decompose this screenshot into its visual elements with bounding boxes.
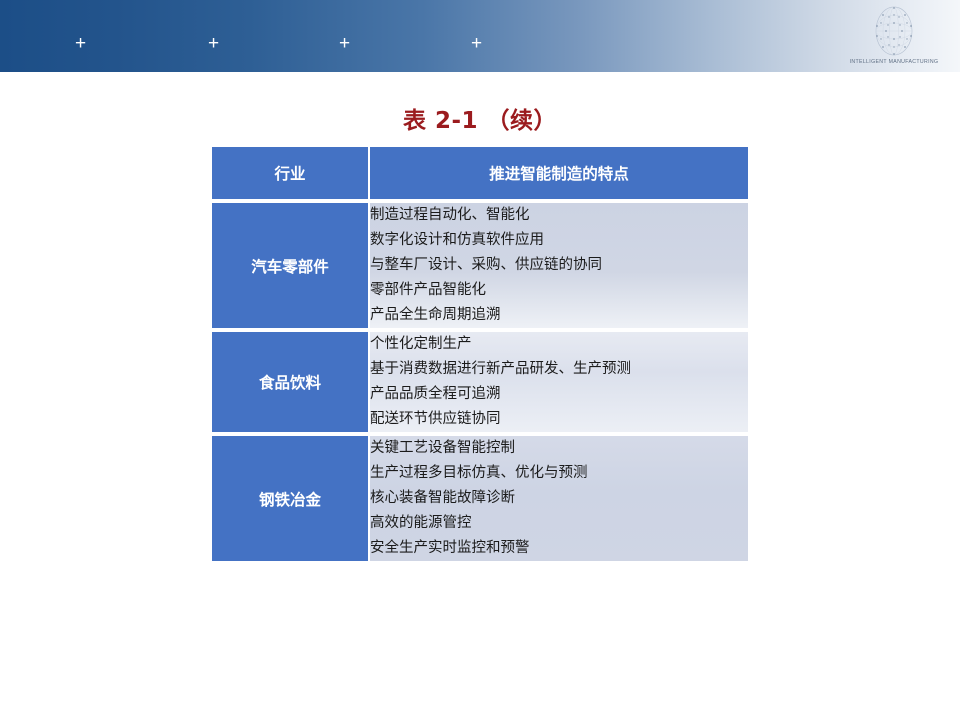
page-title: 表 2-1 （续） (0, 101, 960, 135)
banner-plus-icon-3: + (339, 34, 350, 53)
feature-line: 与整车厂设计、采购、供应链的协同 (370, 253, 748, 278)
feature-line: 制造过程自动化、智能化 (370, 203, 748, 228)
feature-line: 关键工艺设备智能控制 (370, 436, 748, 461)
feature-line: 生产过程多目标仿真、优化与预测 (370, 461, 748, 486)
industry-cell-food-beverage: 食品饮料 (212, 328, 370, 432)
column-header-features: 推进智能制造的特点 (370, 147, 748, 199)
features-cell-auto-parts: 制造过程自动化、智能化 数字化设计和仿真软件应用 与整车厂设计、采购、供应链的协… (370, 199, 748, 328)
banner-plus-icon-2: + (208, 34, 219, 53)
feature-line: 个性化定制生产 (370, 332, 748, 357)
feature-line: 高效的能源管控 (370, 511, 748, 536)
table-row: 食品饮料 个性化定制生产 基于消费数据进行新产品研发、生产预测 产品品质全程可追… (212, 328, 748, 432)
column-header-industry: 行业 (212, 147, 370, 199)
feature-table: 行业 推进智能制造的特点 汽车零部件 制造过程自动化、智能化 数字化设计和仿真软… (212, 147, 748, 561)
features-cell-steel-metallurgy: 关键工艺设备智能控制 生产过程多目标仿真、优化与预测 核心装备智能故障诊断 高效… (370, 432, 748, 561)
feature-line: 核心装备智能故障诊断 (370, 486, 748, 511)
top-banner: + + + + (0, 0, 960, 72)
table-row: 钢铁冶金 关键工艺设备智能控制 生产过程多目标仿真、优化与预测 核心装备智能故障… (212, 432, 748, 561)
table-row: 汽车零部件 制造过程自动化、智能化 数字化设计和仿真软件应用 与整车厂设计、采购… (212, 199, 748, 328)
feature-line: 数字化设计和仿真软件应用 (370, 228, 748, 253)
feature-line: 安全生产实时监控和预警 (370, 536, 748, 561)
feature-line: 基于消费数据进行新产品研发、生产预测 (370, 357, 748, 382)
feature-line: 产品品质全程可追溯 (370, 382, 748, 407)
features-cell-food-beverage: 个性化定制生产 基于消费数据进行新产品研发、生产预测 产品品质全程可追溯 配送环… (370, 328, 748, 432)
table-header-row: 行业 推进智能制造的特点 (212, 147, 748, 199)
banner-plus-icon-4: + (471, 34, 482, 53)
sphere-network-icon (870, 4, 918, 58)
brand-logo: INTELLIGENT MANUFACTURING (838, 4, 950, 72)
feature-line: 零部件产品智能化 (370, 278, 748, 303)
industry-cell-auto-parts: 汽车零部件 (212, 199, 370, 328)
feature-line: 配送环节供应链协同 (370, 407, 748, 432)
banner-plus-icon-1: + (75, 34, 86, 53)
logo-wordmark: INTELLIGENT MANUFACTURING (838, 59, 950, 65)
industry-cell-steel-metallurgy: 钢铁冶金 (212, 432, 370, 561)
feature-line: 产品全生命周期追溯 (370, 303, 748, 328)
